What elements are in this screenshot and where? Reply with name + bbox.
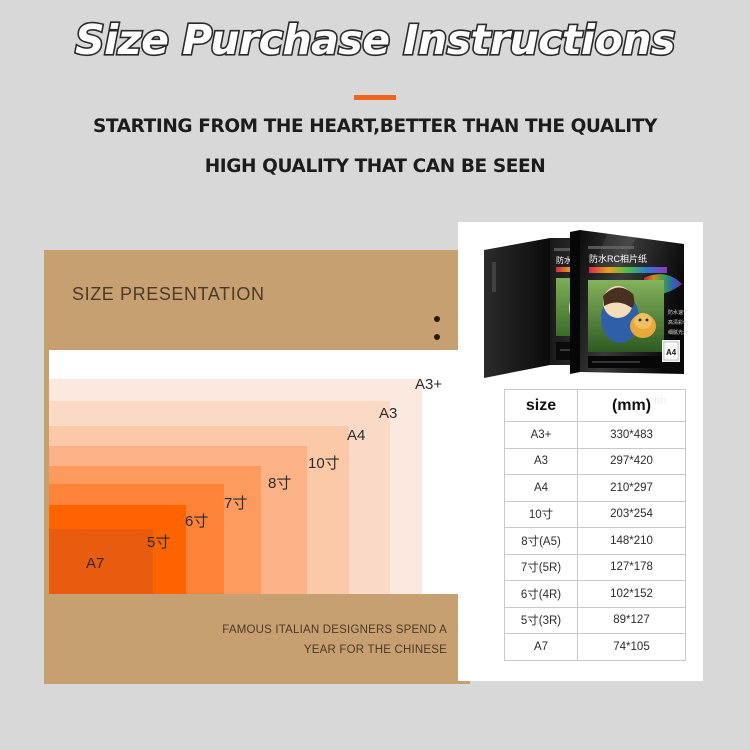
cell-mm: 102*152 (578, 581, 686, 608)
table-row: 5寸(3R)89*127 (505, 607, 686, 634)
header-section: Size Purchase Instructions STARTING FROM… (0, 0, 750, 200)
cell-mm: 297*420 (578, 448, 686, 475)
cell-size: A7 (505, 634, 578, 661)
cell-size: A4 (505, 475, 578, 502)
title-divider (354, 95, 396, 100)
decorative-dot-icon (434, 316, 440, 322)
table-row: 10寸203*254 (505, 501, 686, 528)
svg-text:防水RC相片纸: 防水RC相片纸 (589, 253, 647, 264)
footer-line-2: YEAR FOR THE CHINESE (222, 640, 447, 660)
size-rect-label-A7: A7 (86, 555, 104, 572)
table-body: A3+330*483A3297*420A4210*29710寸203*2548寸… (505, 422, 686, 661)
table-row: 7寸(5R)127*178 (505, 554, 686, 581)
table-row: A774*105 (505, 634, 686, 661)
cell-size: 8寸(A5) (505, 528, 578, 555)
cell-mm: 74*105 (578, 634, 686, 661)
svg-text:A4: A4 (666, 348, 677, 357)
subtitle-line-2: HIGH QUALITY THAT CAN BE SEEN (0, 156, 750, 177)
table-row: 8寸(A5)148*210 (505, 528, 686, 555)
table-row: 6寸(4R)102*152 (505, 581, 686, 608)
cell-size: 7寸(5R) (505, 554, 578, 581)
cell-mm: 127*178 (578, 554, 686, 581)
page-title: Size Purchase Instructions (0, 16, 750, 64)
table-header-size: size (505, 390, 578, 422)
svg-text:细腻光滑: 细腻光滑 (668, 329, 688, 336)
table-header-row: size (mm) (505, 390, 686, 422)
cell-mm: 89*127 (578, 607, 686, 634)
table-header-mm: (mm) (578, 390, 686, 422)
svg-text:防水速干: 防水速干 (668, 309, 688, 316)
size-presentation-title: SIZE PRESENTATION (72, 284, 265, 305)
product-panel: 防水RC相片纸 防水RC相片纸 (458, 222, 703, 681)
cell-size: 10寸 (505, 501, 578, 528)
footer-line-1: FAMOUS ITALIAN DESIGNERS SPEND A (222, 620, 447, 640)
size-table: size (mm) A3+330*483A3297*420A4210*29710… (504, 389, 686, 661)
cell-size: A3 (505, 448, 578, 475)
cell-size: 5寸(3R) (505, 607, 578, 634)
cell-size: 6寸(4R) (505, 581, 578, 608)
size-rect-label-A3: A3 (379, 405, 397, 422)
svg-text:高清彩色: 高清彩色 (668, 319, 688, 326)
size-rect-label-7寸: 7寸 (224, 492, 247, 513)
size-rectangle-stack: A3+A3A410寸8寸7寸6寸5寸A7 (49, 350, 464, 594)
cell-mm: 330*483 (578, 422, 686, 449)
table-row: A4210*297 (505, 475, 686, 502)
subtitle-line-1: STARTING FROM THE HEART,BETTER THAN THE … (0, 116, 750, 137)
size-presentation-card: SIZE PRESENTATION A3+A3A410寸8寸7寸6寸5寸A7 F… (44, 250, 470, 684)
product-box-illustration: 防水RC相片纸 防水RC相片纸 (458, 222, 703, 387)
cell-mm: 148*210 (578, 528, 686, 555)
table-row: A3+330*483 (505, 422, 686, 449)
size-card-footer: FAMOUS ITALIAN DESIGNERS SPEND A YEAR FO… (222, 620, 447, 660)
size-rect-label-10寸: 10寸 (308, 452, 340, 473)
cell-size: A3+ (505, 422, 578, 449)
size-rect-label-5寸: 5寸 (147, 531, 170, 552)
size-rect-label-6寸: 6寸 (185, 510, 208, 531)
size-rect-label-A3+: A3+ (415, 376, 442, 393)
size-rect-label-8寸: 8寸 (268, 472, 291, 493)
cell-mm: 210*297 (578, 475, 686, 502)
cell-mm: 203*254 (578, 501, 686, 528)
decorative-dot-icon (434, 334, 440, 340)
size-rect-label-A4: A4 (347, 427, 365, 444)
photo-paper-boxes-svg: 防水RC相片纸 防水RC相片纸 (458, 222, 703, 387)
table-row: A3297*420 (505, 448, 686, 475)
